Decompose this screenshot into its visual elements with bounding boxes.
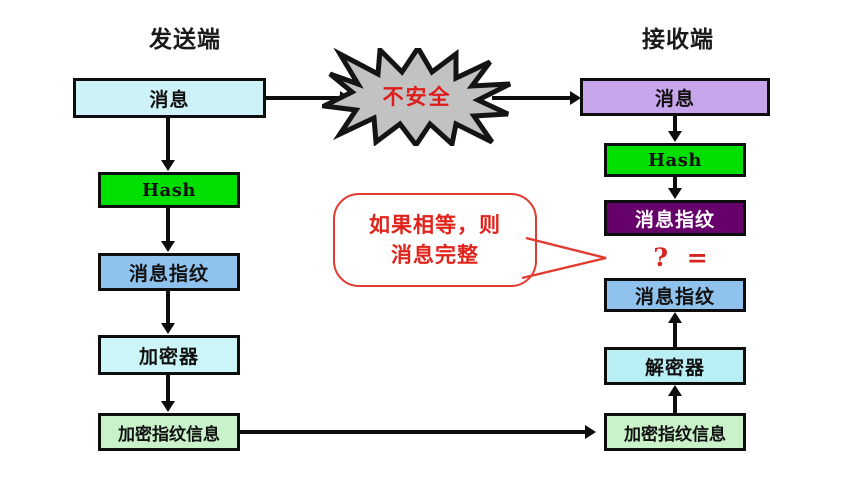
connector-decryptor-to-fingerprint [673,323,677,347]
callout-tail [520,232,620,294]
receiver-hash-box[interactable]: Hash [604,143,746,177]
receiver-decrypted-fingerprint-box[interactable]: 消息指纹 [604,278,746,312]
connector-hazard-to-receiver-message [492,96,576,100]
hazard-starburst: 不安全 [322,48,512,146]
connector-digest-to-decryptor [673,396,677,413]
arrowhead-receiver-fingerprint [668,188,682,199]
sender-title: 发送端 [120,20,250,54]
integrity-callout: 如果相等，则 消息完整 [333,193,537,287]
comparison-equals-mark: ? = [648,243,718,272]
arrowhead-decrypted-fingerprint [668,312,682,323]
connector-sender-encryptor-to-digest [166,375,170,402]
hazard-label: 不安全 [322,81,512,111]
arrowhead-receiver-digest-in [585,425,596,439]
sender-encrypted-digest-box[interactable]: 加密指纹信息 [98,413,240,451]
sender-hash-box[interactable]: Hash [98,172,240,208]
callout-line-2: 消息完整 [391,240,479,270]
sender-message-box[interactable]: 消息 [73,78,266,118]
sender-encryptor-box[interactable]: 加密器 [98,335,240,375]
diagram-canvas: 发送端 接收端 消息 Hash 消息指纹 加密器 加密指纹信息 不安全 消息 H… [0,0,864,490]
sender-fingerprint-box[interactable]: 消息指纹 [98,253,240,291]
receiver-fingerprint-box[interactable]: 消息指纹 [604,200,746,236]
connector-sender-message-to-hash [166,118,170,161]
callout-line-1: 如果相等，则 [369,210,501,240]
arrowhead-sender-hash [161,160,175,171]
arrowhead-receiver-hash [668,131,682,142]
connector-sender-hash-to-fingerprint [166,208,170,241]
connector-sender-digest-to-receiver-digest [240,430,588,434]
arrowhead-decryptor-in [668,385,682,396]
receiver-encrypted-digest-box[interactable]: 加密指纹信息 [604,413,746,451]
arrowhead-sender-fingerprint [161,241,175,252]
receiver-message-box[interactable]: 消息 [580,78,770,116]
receiver-decryptor-box[interactable]: 解密器 [604,347,746,385]
receiver-title: 接收端 [613,20,743,54]
connector-receiver-message-to-hash [673,116,677,132]
arrowhead-sender-encryptor [161,323,175,334]
arrowhead-sender-digest [161,401,175,412]
connector-sender-fingerprint-to-encryptor [166,291,170,323]
